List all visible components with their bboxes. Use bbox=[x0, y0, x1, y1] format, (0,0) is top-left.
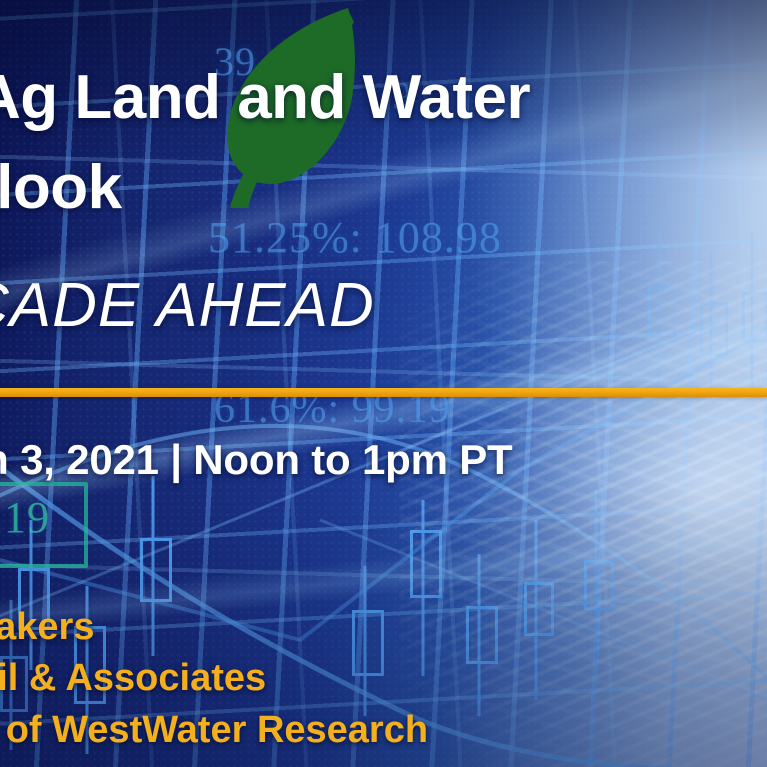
page-title-line-2: tlook bbox=[0, 152, 122, 223]
page-subtitle: CADE AHEAD bbox=[0, 270, 375, 341]
ticker-number-mid: 51.25%: 108.98 bbox=[208, 212, 502, 263]
speakers-heading: eakers bbox=[0, 606, 94, 649]
speaker-role: e of WestWater Research bbox=[0, 709, 428, 752]
speaker-organization: uil & Associates bbox=[0, 657, 266, 700]
event-date-time: ch 3, 2021 | Noon to 1pm PT bbox=[0, 436, 512, 484]
gold-divider-rule bbox=[0, 388, 767, 397]
ticker-number-bottom-left: .19 bbox=[0, 492, 50, 543]
webinar-banner: 39 9 51.25%: 108.98 61.6%: 99.19 .19 Ag … bbox=[0, 0, 767, 767]
page-title-line-1: Ag Land and Water bbox=[0, 62, 530, 133]
